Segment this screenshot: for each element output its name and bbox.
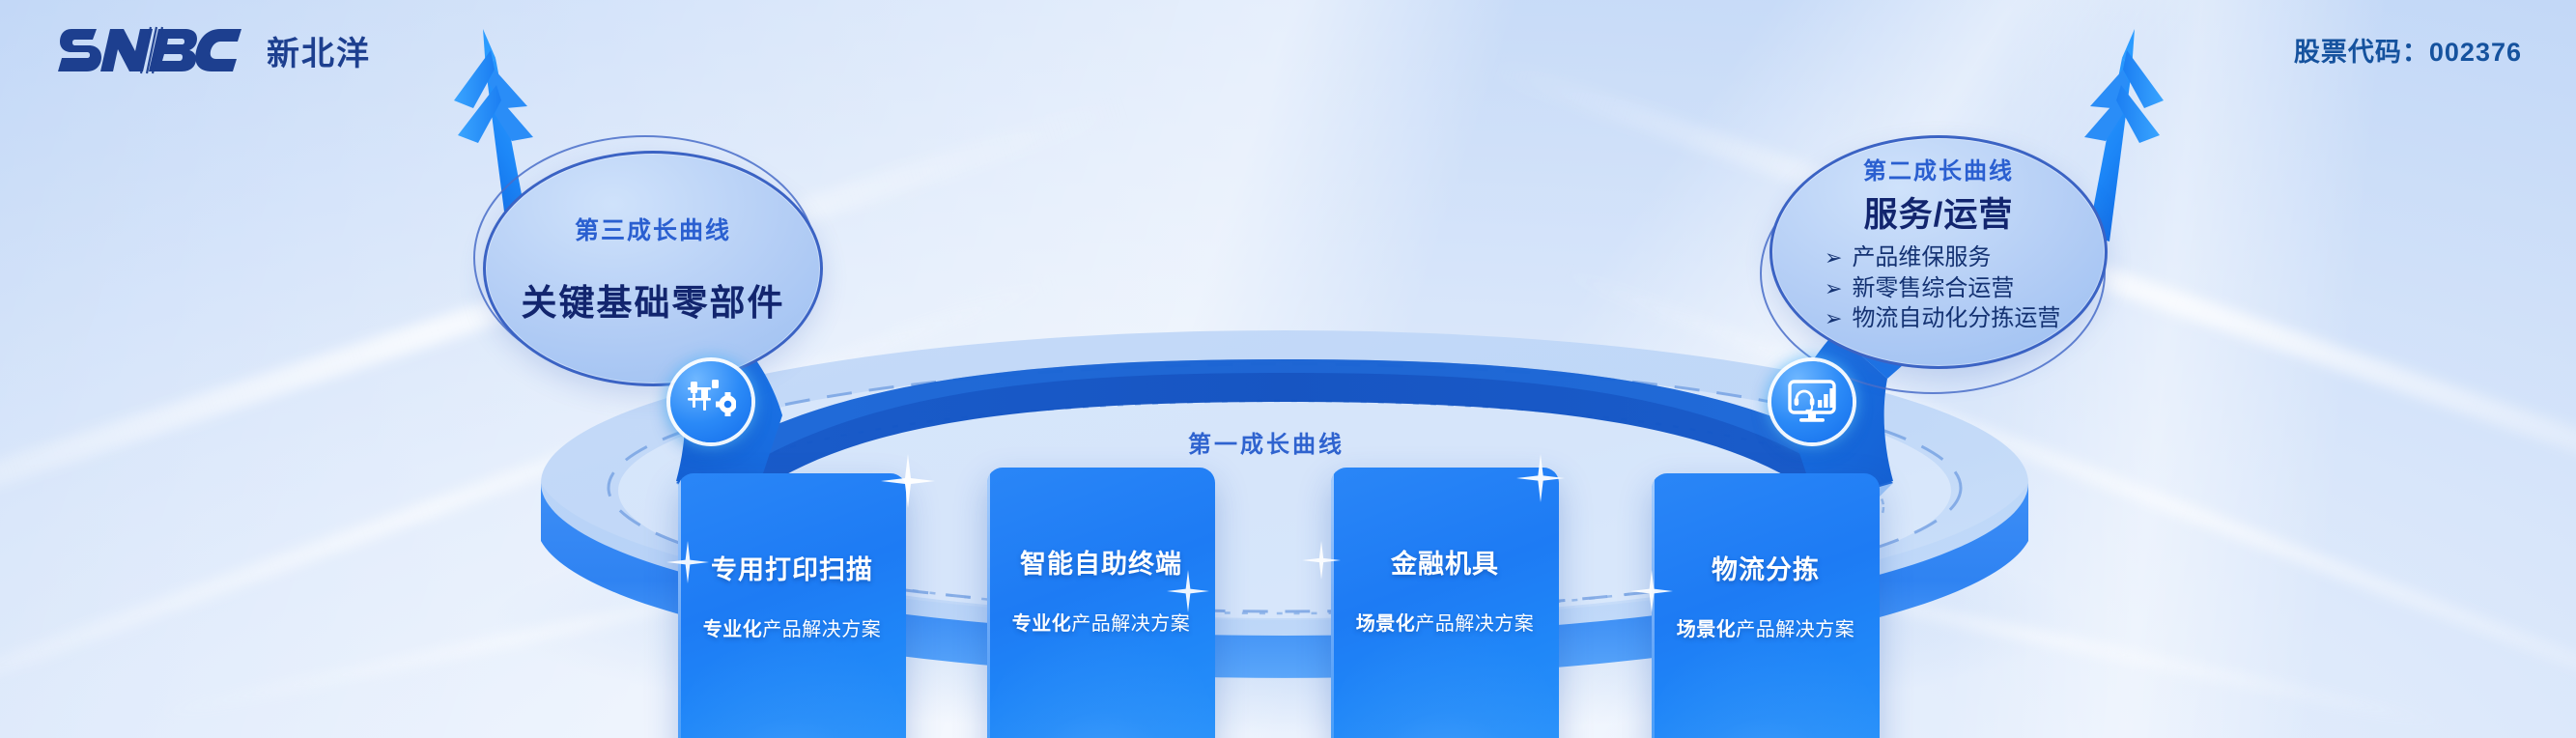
logo-company-name: 新北洋 [267,27,371,74]
card-glow [678,628,906,738]
card-subtitle: 场景化产品解决方案 [1331,608,1559,636]
stock-code-label: 股票代码：002376 [2294,31,2522,69]
chevron-right-icon: ➢ [1825,243,1842,271]
second-growth-curve-bubble[interactable]: 第二成长曲线 服务/运营 ➢ 产品维保服务 ➢ 新零售综合运营 ➢ 物流自动化分… [1769,135,2108,369]
snbc-logo-icon [58,21,251,79]
card-subtitle-bold: 场景化 [1677,619,1737,640]
card-text: 物流分拣 场景化产品解决方案 [1652,549,1880,641]
second-curve-item-list: ➢ 产品维保服务 ➢ 新零售综合运营 ➢ 物流自动化分拣运营 [1772,242,2105,334]
card-glow [1331,622,1559,738]
card-glow [987,622,1215,738]
list-item: ➢ 产品维保服务 [1825,242,2105,273]
product-card[interactable]: 智能自助终端 专业化产品解决方案 [987,468,1215,738]
product-card[interactable]: 专用打印扫描 专业化产品解决方案 [678,473,906,738]
card-subtitle: 专业化产品解决方案 [987,608,1215,636]
infographic-canvas: 新北洋 股票代码：002376 [0,0,2576,738]
card-text: 专用打印扫描 专业化产品解决方案 [678,549,906,641]
list-item-label: 物流自动化分拣运营 [1852,303,2060,334]
card-subtitle: 专业化产品解决方案 [678,613,906,641]
second-curve-icon-badge[interactable] [1771,361,1853,442]
third-curve-title: 关键基础零部件 [522,273,785,326]
card-title: 专用打印扫描 [678,549,906,586]
third-growth-curve-bubble[interactable]: 第三成长曲线 关键基础零部件 [483,151,823,386]
chevron-right-icon: ➢ [1825,274,1842,302]
card-subtitle-rest: 产品解决方案 [1415,613,1534,635]
card-title: 物流分拣 [1652,549,1880,586]
list-item: ➢ 新零售综合运营 [1825,273,2105,304]
card-title: 金融机具 [1331,543,1559,581]
card-subtitle-bold: 专业化 [1012,613,1072,635]
sliders-gear-icon [686,377,736,427]
second-curve-title: 服务/运营 [1864,187,2014,237]
list-item: ➢ 物流自动化分拣运营 [1825,303,2105,334]
product-card[interactable]: 物流分拣 场景化产品解决方案 [1652,473,1880,738]
monitor-headset-chart-icon [1787,379,1837,425]
card-subtitle-rest: 产品解决方案 [1071,613,1190,635]
second-curve-label: 第二成长曲线 [1863,152,2014,185]
product-card[interactable]: 金融机具 场景化产品解决方案 [1331,468,1559,738]
card-subtitle-rest: 产品解决方案 [762,619,881,640]
company-logo: 新北洋 [58,21,371,79]
third-curve-icon-badge[interactable] [670,361,751,442]
card-subtitle-rest: 产品解决方案 [1736,619,1854,640]
first-growth-curve-label: 第一成长曲线 [1188,425,1345,459]
card-subtitle-bold: 场景化 [1356,613,1416,635]
growth-platform-graphic [0,0,2576,738]
card-title: 智能自助终端 [987,543,1215,581]
card-subtitle: 场景化产品解决方案 [1652,613,1880,641]
card-subtitle-bold: 专业化 [703,619,763,640]
chevron-right-icon: ➢ [1825,304,1842,332]
third-curve-label: 第三成长曲线 [575,212,731,246]
list-item-label: 新零售综合运营 [1852,273,2014,304]
list-item-label: 产品维保服务 [1852,242,1991,273]
card-text: 智能自助终端 专业化产品解决方案 [987,543,1215,636]
card-glow [1652,628,1880,738]
card-text: 金融机具 场景化产品解决方案 [1331,543,1559,636]
